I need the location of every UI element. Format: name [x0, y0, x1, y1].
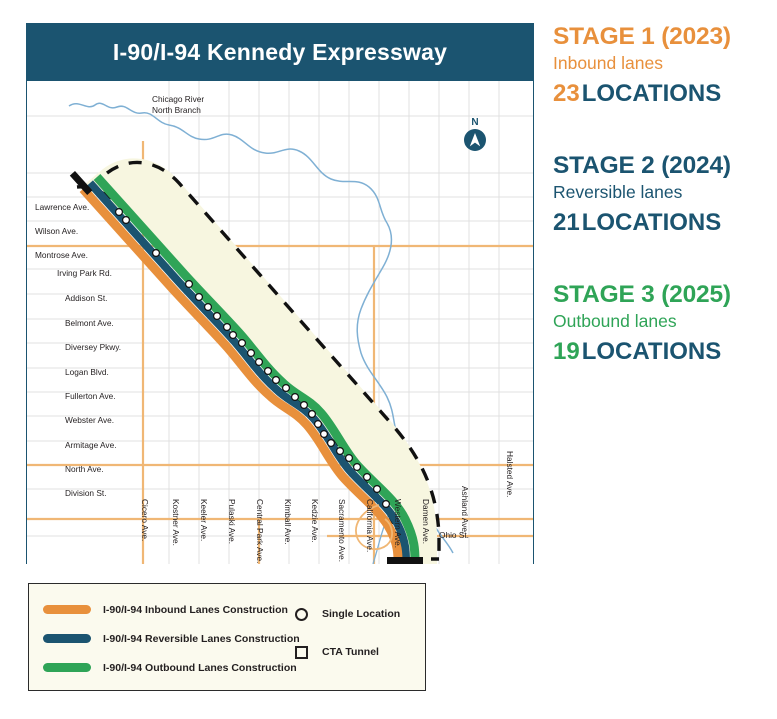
legend-item-reversible: I-90/I-94 Reversible Lanes Construction [43, 624, 300, 653]
street-label-diversey-pkwy: Diversey Pkwy. [65, 342, 121, 352]
single-location-marker [196, 294, 203, 301]
stage-1-subtitle: Inbound lanes [553, 52, 768, 75]
legend-label-cta-tunnel: CTA Tunnel [322, 646, 379, 658]
single-location-marker [214, 313, 221, 320]
reversible-line-swatch-icon [43, 634, 91, 643]
single-location-marker [283, 385, 290, 392]
stage-3-subtitle: Outbound lanes [553, 310, 768, 333]
street-label-north-ave: North Ave. [65, 464, 104, 474]
stage-2-count-row: 21LOCATIONS [553, 208, 768, 238]
single-location-marker [224, 324, 231, 331]
street-label-montrose-ave: Montrose Ave. [35, 250, 88, 260]
street-label-logan-blvd: Logan Blvd. [65, 367, 109, 377]
river-label-line2: North Branch [152, 105, 204, 116]
street-label-lawrence-ave: Lawrence Ave. [35, 202, 89, 212]
stage-2-block: STAGE 2 (2024) Reversible lanes 21LOCATI… [553, 151, 768, 238]
stage-1-count-label: LOCATIONS [582, 80, 722, 107]
legend-label-single-location: Single Location [322, 608, 400, 620]
single-location-marker [205, 304, 212, 311]
street-label-kimball-ave: Kimball Ave. [283, 499, 293, 545]
map-canvas: N Chicago River North Branch Lawrence Av… [27, 81, 533, 564]
single-location-marker [273, 377, 280, 384]
single-location-marker [346, 455, 353, 462]
stage-1-title: STAGE 1 (2023) [553, 22, 768, 51]
stage-2-count-number: 21 [553, 209, 580, 236]
single-location-marker [321, 431, 328, 438]
north-arrow: N [462, 117, 488, 151]
legend-label-reversible: I-90/I-94 Reversible Lanes Construction [103, 633, 300, 645]
stage-2-title: STAGE 2 (2024) [553, 151, 768, 180]
north-label: N [462, 117, 488, 128]
legend-item-single-location: Single Location [295, 595, 400, 633]
map-panel: I-90/I-94 Kennedy Expressway [26, 23, 534, 564]
street-label-western-ave: Western Ave. [393, 499, 403, 548]
street-label-division-st: Division St. [65, 488, 107, 498]
north-arrow-icon [464, 129, 486, 151]
single-location-marker [337, 448, 344, 455]
street-label-ashland-ave: Ashland Ave. [460, 486, 470, 534]
legend-lines-column: I-90/I-94 Inbound Lanes Construction I-9… [43, 595, 300, 682]
street-label-armitage-ave: Armitage Ave. [65, 440, 117, 450]
street-label-webster-ave: Webster Ave. [65, 415, 114, 425]
map-title-bar: I-90/I-94 Kennedy Expressway [27, 24, 533, 81]
single-location-marker [292, 394, 299, 401]
street-label-kedzie-ave: Kedzie Ave. [310, 499, 320, 543]
stage-1-count-row: 23LOCATIONS [553, 79, 768, 109]
single-location-marker [123, 217, 130, 224]
stage-3-count-number: 19 [553, 338, 580, 365]
street-label-irving-park-rd: Irving Park Rd. [57, 268, 112, 278]
stage-1-count-number: 23 [553, 80, 580, 107]
single-location-marker [116, 209, 123, 216]
street-label-pulaski-ave: Pulaski Ave. [227, 499, 237, 544]
single-location-marker [383, 501, 390, 508]
legend-label-outbound: I-90/I-94 Outbound Lanes Construction [103, 662, 297, 674]
cta-tunnel-square-icon [295, 646, 308, 659]
single-location-marker [230, 332, 237, 339]
street-label-california-ave: California Ave. [365, 499, 375, 552]
infographic-root: I-90/I-94 Kennedy Expressway [0, 0, 777, 719]
single-location-marker [248, 350, 255, 357]
single-location-marker [364, 474, 371, 481]
legend-item-cta-tunnel: CTA Tunnel [295, 633, 400, 671]
legend-label-inbound: I-90/I-94 Inbound Lanes Construction [103, 604, 288, 616]
river-label: Chicago River North Branch [152, 94, 204, 116]
single-location-marker [315, 421, 322, 428]
single-location-circle-icon [295, 608, 308, 621]
street-label-damen-ave: Damen Ave. [421, 499, 431, 544]
stage-3-block: STAGE 3 (2025) Outbound lanes 19LOCATION… [553, 280, 768, 367]
street-label-central-park-ave: Central Park Ave. [255, 499, 265, 563]
stage-3-count-label: LOCATIONS [582, 338, 722, 365]
stage-2-count-label: LOCATIONS [582, 209, 722, 236]
single-location-marker [301, 402, 308, 409]
street-label-belmont-ave: Belmont Ave. [65, 318, 114, 328]
stage-3-title: STAGE 3 (2025) [553, 280, 768, 309]
street-label-addison-st: Addison St. [65, 293, 107, 303]
street-label-fullerton-ave: Fullerton Ave. [65, 391, 116, 401]
single-location-marker [256, 359, 263, 366]
single-location-marker [354, 464, 361, 471]
single-location-marker [309, 411, 316, 418]
legend-box: I-90/I-94 Inbound Lanes Construction I-9… [28, 583, 426, 691]
street-label-cicero-ave: Cicero Ave. [140, 499, 150, 541]
legend-symbols-column: Single Location CTA Tunnel [295, 595, 400, 671]
street-label-kostner-ave: Kostner Ave. [171, 499, 181, 546]
single-location-marker [153, 250, 160, 257]
street-label-wilson-ave: Wilson Ave. [35, 226, 78, 236]
single-location-marker [265, 368, 272, 375]
stage-2-subtitle: Reversible lanes [553, 181, 768, 204]
stages-panel: STAGE 1 (2023) Inbound lanes 23LOCATIONS… [553, 22, 768, 409]
inbound-line-swatch-icon [43, 605, 91, 614]
single-location-marker [328, 440, 335, 447]
single-location-marker [374, 486, 381, 493]
river-label-line1: Chicago River [152, 94, 204, 105]
legend-item-inbound: I-90/I-94 Inbound Lanes Construction [43, 595, 300, 624]
single-location-marker [239, 340, 246, 347]
stage-3-count-row: 19LOCATIONS [553, 337, 768, 367]
street-label-halsted-ave: Halsted Ave. [505, 451, 515, 497]
stage-1-block: STAGE 1 (2023) Inbound lanes 23LOCATIONS [553, 22, 768, 109]
page-title: I-90/I-94 Kennedy Expressway [113, 39, 447, 66]
legend-item-outbound: I-90/I-94 Outbound Lanes Construction [43, 653, 300, 682]
street-label-keeler-ave: Keeler Ave. [199, 499, 209, 541]
single-location-marker [186, 281, 193, 288]
cta-tunnel-south [387, 557, 423, 564]
outbound-line-swatch-icon [43, 663, 91, 672]
street-label-sacramento-ave: Sacramento Ave. [337, 499, 347, 562]
